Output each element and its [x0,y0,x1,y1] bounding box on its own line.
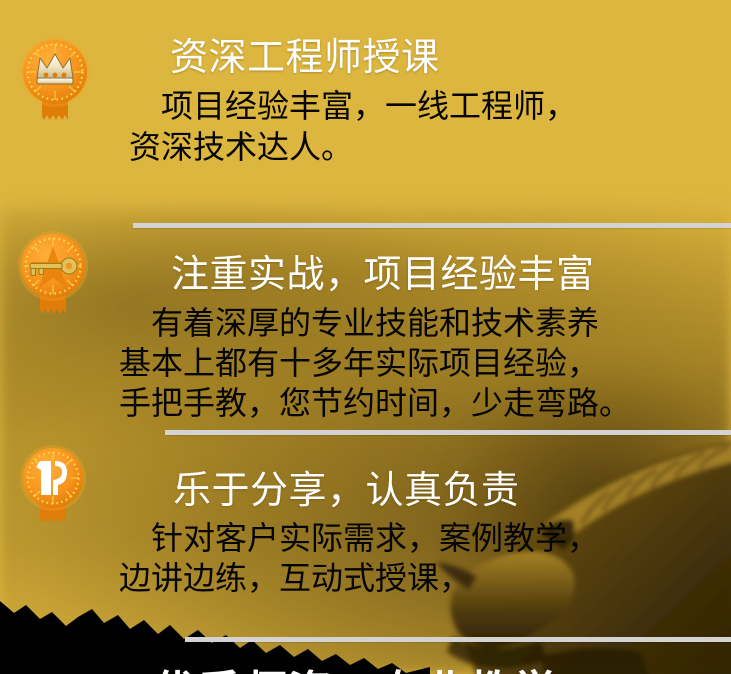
key-star-medal-icon [10,222,96,322]
section-1-heading: 资深工程师授课 [170,26,440,81]
section-divider-3 [185,637,731,642]
promo-poster: 资深工程师授课 项目经验丰富，一线工程师， 资深技术达人。 [0,0,731,674]
section-2-body-line-1: 有着深厚的专业技能和技术素养 [119,303,599,344]
ribbon-medal-icon [10,437,96,537]
section-3-heading: 乐于分享，认真负责 [173,459,520,514]
poster-content: 资深工程师授课 项目经验丰富，一线工程师， 资深技术达人。 [0,0,731,674]
section-1-body-line-1: 项目经验丰富，一线工程师， [129,86,577,127]
section-2-heading: 注重实战，项目经验丰富 [171,243,595,298]
section-3-body-line-2: 边讲边练，互动式授课， [119,558,471,599]
section-divider-2 [165,430,731,435]
section-divider-1 [133,223,731,228]
crown-medal-icon [12,28,98,128]
section-2-body-line-2: 基本上都有十多年实际项目经验， [119,343,599,384]
bottom-cutoff-heading: 优秀师资，专业教学 [153,656,558,674]
section-3-body-line-1: 针对客户实际需求，案例教学， [119,518,599,559]
section-1-body-line-2: 资深技术达人。 [129,127,353,168]
section-2-body-line-3: 手把手教，您节约时间，少走弯路。 [119,383,631,424]
